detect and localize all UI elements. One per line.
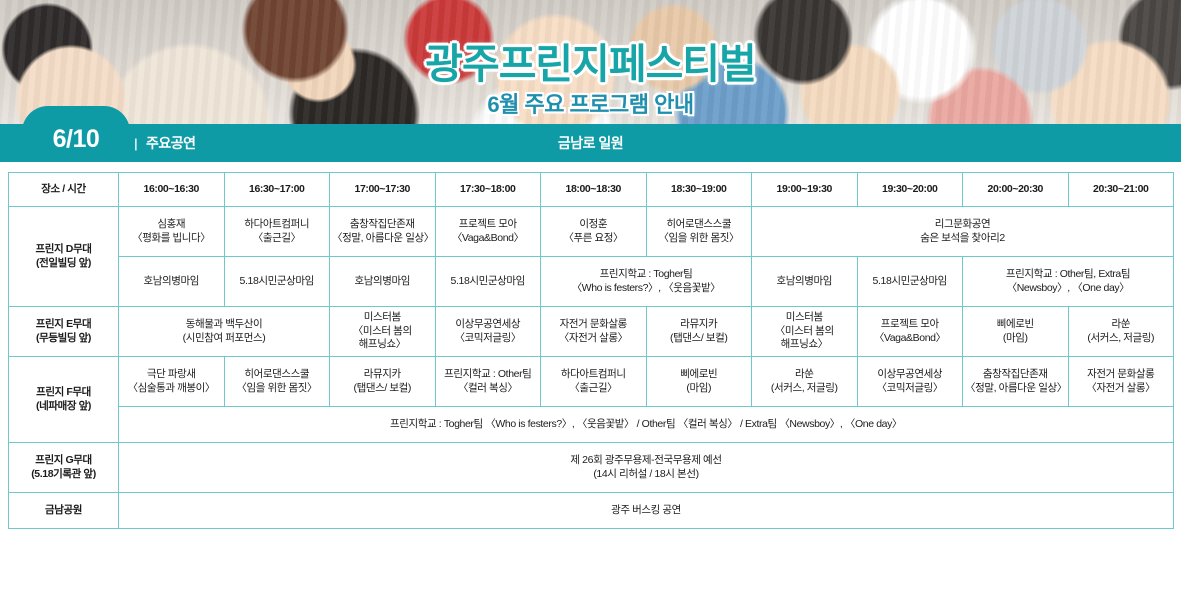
- date-bar-venue: 금남로 일원: [0, 133, 1181, 153]
- program-title: 하다아트컴퍼니: [227, 218, 328, 231]
- header-time-7: 19:30~20:00: [857, 173, 963, 207]
- stage-label-g: 프린지 G무대 (5.18기록관 앞): [9, 443, 119, 493]
- program-subtitle: 〈출근길〉: [227, 232, 328, 245]
- program-cell: 호남의병마임: [330, 257, 436, 307]
- program-subtitle: 〈자전거 살롱〉: [543, 332, 644, 345]
- stage-name: 금남공원: [11, 504, 116, 517]
- program-cell: 동해물과 백두산이(시민참여 퍼포먼스): [119, 307, 330, 357]
- program-title: 극단 파랑새: [121, 368, 222, 381]
- program-title: 광주 버스킹 공연: [121, 504, 1171, 517]
- header-time-8: 20:00~20:30: [963, 173, 1069, 207]
- program-cell: 라쑨(서커스, 저글링): [752, 357, 858, 407]
- program-title: 동해물과 백두산이: [121, 318, 327, 331]
- program-cell: 프로젝트 모아〈Vaga&Bond〉: [435, 207, 541, 257]
- program-subtitle: 〈정말, 아름다운 일상〉: [332, 232, 433, 245]
- stage-label-d: 프린지 D무대 (전일빌딩 앞): [9, 207, 119, 307]
- stage-place: (무등빌딩 앞): [11, 332, 116, 345]
- program-title: 5.18시민군상마임: [438, 275, 539, 288]
- header-time-1: 16:30~17:00: [224, 173, 330, 207]
- program-subtitle: 〈평화를 빕니다〉: [121, 232, 222, 245]
- header-time-4: 18:00~18:30: [541, 173, 647, 207]
- program-subtitle: 〈출근길〉: [543, 382, 644, 395]
- program-subtitle: 〈임을 위한 몸짓〉: [227, 382, 328, 395]
- program-title: 춤창작집단존재: [965, 368, 1066, 381]
- header-time-3: 17:30~18:00: [435, 173, 541, 207]
- stage-place: (전일빌딩 앞): [11, 257, 116, 270]
- program-cell: 미스터봄〈미스터 봄의 해프닝쇼〉: [330, 307, 436, 357]
- schedule-body: 프린지 D무대 (전일빌딩 앞) 심홍재〈평화를 빕니다〉 하다아트컴퍼니〈출근…: [9, 207, 1174, 529]
- program-title: 삐에로빈: [649, 368, 750, 381]
- program-cell: 히어로댄스스쿨〈임을 위한 몸짓〉: [224, 357, 330, 407]
- program-title: 라뮤지카: [332, 368, 433, 381]
- program-cell-wide: 프린지학교 : Togher팀 〈Who is festers?〉, 〈웃음꽃밭…: [119, 407, 1174, 443]
- program-cell: 5.18시민군상마임: [435, 257, 541, 307]
- header-time-2: 17:00~17:30: [330, 173, 436, 207]
- program-subtitle: 〈Vaga&Bond〉: [860, 332, 961, 345]
- program-cell: 5.18시민군상마임: [224, 257, 330, 307]
- program-title: 프린지학교 : Other팀: [438, 368, 539, 381]
- program-title: 호남의병마임: [332, 275, 433, 288]
- table-row: 프린지 F무대 (네파매장 앞) 극단 파랑새〈심술통과 깨봉이〉 히어로댄스스…: [9, 357, 1174, 407]
- stage-name: 프린지 G무대: [11, 454, 116, 467]
- date-bar: 6/10 | 주요공연 금남로 일원: [0, 124, 1181, 162]
- program-cell-wide: 제 26회 광주무용제-전국무용제 예선(14시 리허설 / 18시 본선): [119, 443, 1174, 493]
- program-subtitle: 〈푸른 요정〉: [543, 232, 644, 245]
- program-cell: 프린지학교 : Other팀〈컬러 복싱〉: [435, 357, 541, 407]
- hero-title-group: 광주프린지페스티벌 6월 주요 프로그램 안내: [0, 44, 1181, 116]
- program-subtitle: 숨은 보석을 찾아리2: [754, 232, 1171, 245]
- program-cell: 하다아트컴퍼니〈출근길〉: [541, 357, 647, 407]
- schedule-table-wrap: 장소 / 시간 16:00~16:30 16:30~17:00 17:00~17…: [0, 162, 1181, 537]
- program-subtitle: 〈자전거 살롱〉: [1071, 382, 1172, 395]
- program-title: 프린지학교 : Togher팀: [543, 268, 749, 281]
- header-time-9: 20:30~21:00: [1068, 173, 1174, 207]
- table-row: 프린지 E무대 (무등빌딩 앞) 동해물과 백두산이(시민참여 퍼포먼스) 미스…: [9, 307, 1174, 357]
- stage-place: (네파매장 앞): [11, 400, 116, 413]
- stage-name: 프린지 D무대: [11, 243, 116, 256]
- program-subtitle: (시민참여 퍼포먼스): [121, 332, 327, 345]
- program-title: 이상무공연세상: [438, 318, 539, 331]
- table-header-row: 장소 / 시간 16:00~16:30 16:30~17:00 17:00~17…: [9, 173, 1174, 207]
- program-subtitle: 〈미스터 봄의 해프닝쇼〉: [332, 325, 433, 352]
- program-cell: 삐에로빈(마임): [646, 357, 752, 407]
- header-time-6: 19:00~19:30: [752, 173, 858, 207]
- schedule-table: 장소 / 시간 16:00~16:30 16:30~17:00 17:00~17…: [8, 172, 1174, 529]
- program-title: 프린지학교 : Other팀, Extra팀: [965, 268, 1171, 281]
- program-cell: 라뮤지카(탭댄스/ 보컬): [330, 357, 436, 407]
- program-subtitle: 〈정말, 아름다운 일상〉: [965, 382, 1066, 395]
- program-subtitle: 〈코믹저글링〉: [438, 332, 539, 345]
- program-subtitle: (서커스, 저글링): [754, 382, 855, 395]
- program-subtitle: 〈코믹저글링〉: [860, 382, 961, 395]
- program-title: 하다아트컴퍼니: [543, 368, 644, 381]
- page-subtitle: 6월 주요 프로그램 안내: [0, 94, 1181, 116]
- program-subtitle: 〈Who is festers?〉, 〈웃음꽃밭〉: [543, 282, 749, 295]
- program-cell: 자전거 문화살롱〈자전거 살롱〉: [541, 307, 647, 357]
- program-title: 제 26회 광주무용제-전국무용제 예선: [121, 454, 1171, 467]
- program-cell: 심홍재〈평화를 빕니다〉: [119, 207, 225, 257]
- program-title: 프로젝트 모아: [860, 318, 961, 331]
- program-cell: 프린지학교 : Other팀, Extra팀〈Newsboy〉, 〈One da…: [963, 257, 1174, 307]
- program-cell: 라쑨(서커스, 저글링): [1068, 307, 1174, 357]
- stage-name: 프린지 F무대: [11, 386, 116, 399]
- program-title: 5.18시민군상마임: [227, 275, 328, 288]
- program-title: 호남의병마임: [121, 275, 222, 288]
- program-cell: 이상무공연세상〈코믹저글링〉: [435, 307, 541, 357]
- program-title: 라뮤지카: [649, 318, 750, 331]
- program-title: 춤창작집단존재: [332, 218, 433, 231]
- table-row: 금남공원 광주 버스킹 공연: [9, 493, 1174, 529]
- program-cell: 프로젝트 모아〈Vaga&Bond〉: [857, 307, 963, 357]
- program-title: 히어로댄스스쿨: [649, 218, 750, 231]
- program-subtitle: (마임): [649, 382, 750, 395]
- program-cell: 춤창작집단존재〈정말, 아름다운 일상〉: [330, 207, 436, 257]
- stage-place: (5.18기록관 앞): [11, 468, 116, 481]
- stage-name: 프린지 E무대: [11, 318, 116, 331]
- program-subtitle: 〈심술통과 깨봉이〉: [121, 382, 222, 395]
- program-cell: 호남의병마임: [752, 257, 858, 307]
- program-cell: 하다아트컴퍼니〈출근길〉: [224, 207, 330, 257]
- program-subtitle: (마임): [965, 332, 1066, 345]
- program-cell-wide: 광주 버스킹 공연: [119, 493, 1174, 529]
- program-title: 미스터봄: [332, 311, 433, 324]
- program-title: 자전거 문화살롱: [1071, 368, 1172, 381]
- program-title: 라쑨: [1071, 318, 1172, 331]
- program-cell: 자전거 문화살롱〈자전거 살롱〉: [1068, 357, 1174, 407]
- program-subtitle: (탭댄스/ 보컬): [332, 382, 433, 395]
- program-title: 삐에로빈: [965, 318, 1066, 331]
- stage-label-park: 금남공원: [9, 493, 119, 529]
- program-cell: 호남의병마임: [119, 257, 225, 307]
- program-cell: 히어로댄스스쿨〈임을 위한 몸짓〉: [646, 207, 752, 257]
- program-title: 미스터봄: [754, 311, 855, 324]
- stage-label-e: 프린지 E무대 (무등빌딩 앞): [9, 307, 119, 357]
- program-title: 라쑨: [754, 368, 855, 381]
- program-cell: 미스터봄〈미스터 봄의 해프닝쇼〉: [752, 307, 858, 357]
- program-cell: 리그문화공연숨은 보석을 찾아리2: [752, 207, 1174, 257]
- program-cell: 극단 파랑새〈심술통과 깨봉이〉: [119, 357, 225, 407]
- program-subtitle: 〈Newsboy〉, 〈One day〉: [965, 282, 1171, 295]
- program-cell: 이상무공연세상〈코믹저글링〉: [857, 357, 963, 407]
- program-cell: 라뮤지카(탭댄스/ 보컬): [646, 307, 752, 357]
- program-title: 프린지학교 : Togher팀 〈Who is festers?〉, 〈웃음꽃밭…: [121, 418, 1171, 431]
- header-time-5: 18:30~19:00: [646, 173, 752, 207]
- table-row: 호남의병마임 5.18시민군상마임 호남의병마임 5.18시민군상마임 프린지학…: [9, 257, 1174, 307]
- program-subtitle: (14시 리허설 / 18시 본선): [121, 468, 1171, 481]
- program-title: 이정훈: [543, 218, 644, 231]
- table-row: 프린지 G무대 (5.18기록관 앞) 제 26회 광주무용제-전국무용제 예선…: [9, 443, 1174, 493]
- program-title: 프로젝트 모아: [438, 218, 539, 231]
- table-row: 프린지 D무대 (전일빌딩 앞) 심홍재〈평화를 빕니다〉 하다아트컴퍼니〈출근…: [9, 207, 1174, 257]
- program-title: 리그문화공연: [754, 218, 1171, 231]
- program-title: 심홍재: [121, 218, 222, 231]
- program-cell: 이정훈〈푸른 요정〉: [541, 207, 647, 257]
- program-cell: 춤창작집단존재〈정말, 아름다운 일상〉: [963, 357, 1069, 407]
- program-subtitle: (서커스, 저글링): [1071, 332, 1172, 345]
- program-subtitle: (탭댄스/ 보컬): [649, 332, 750, 345]
- program-title: 이상무공연세상: [860, 368, 961, 381]
- program-title: 5.18시민군상마임: [860, 275, 961, 288]
- header-place-time: 장소 / 시간: [9, 173, 119, 207]
- program-subtitle: 〈Vaga&Bond〉: [438, 232, 539, 245]
- program-cell: 삐에로빈(마임): [963, 307, 1069, 357]
- header-time-0: 16:00~16:30: [119, 173, 225, 207]
- hero-banner: 광주프린지페스티벌 6월 주요 프로그램 안내 6/10 | 주요공연 금남로 …: [0, 0, 1181, 162]
- program-title: 히어로댄스스쿨: [227, 368, 328, 381]
- program-subtitle: 〈미스터 봄의 해프닝쇼〉: [754, 325, 855, 352]
- page-title: 광주프린지페스티벌: [0, 44, 1181, 85]
- stage-label-f: 프린지 F무대 (네파매장 앞): [9, 357, 119, 443]
- program-subtitle: 〈컬러 복싱〉: [438, 382, 539, 395]
- program-title: 호남의병마임: [754, 275, 855, 288]
- program-cell: 5.18시민군상마임: [857, 257, 963, 307]
- program-cell: 프린지학교 : Togher팀〈Who is festers?〉, 〈웃음꽃밭〉: [541, 257, 752, 307]
- program-subtitle: 〈임을 위한 몸짓〉: [649, 232, 750, 245]
- table-row: 프린지학교 : Togher팀 〈Who is festers?〉, 〈웃음꽃밭…: [9, 407, 1174, 443]
- program-title: 자전거 문화살롱: [543, 318, 644, 331]
